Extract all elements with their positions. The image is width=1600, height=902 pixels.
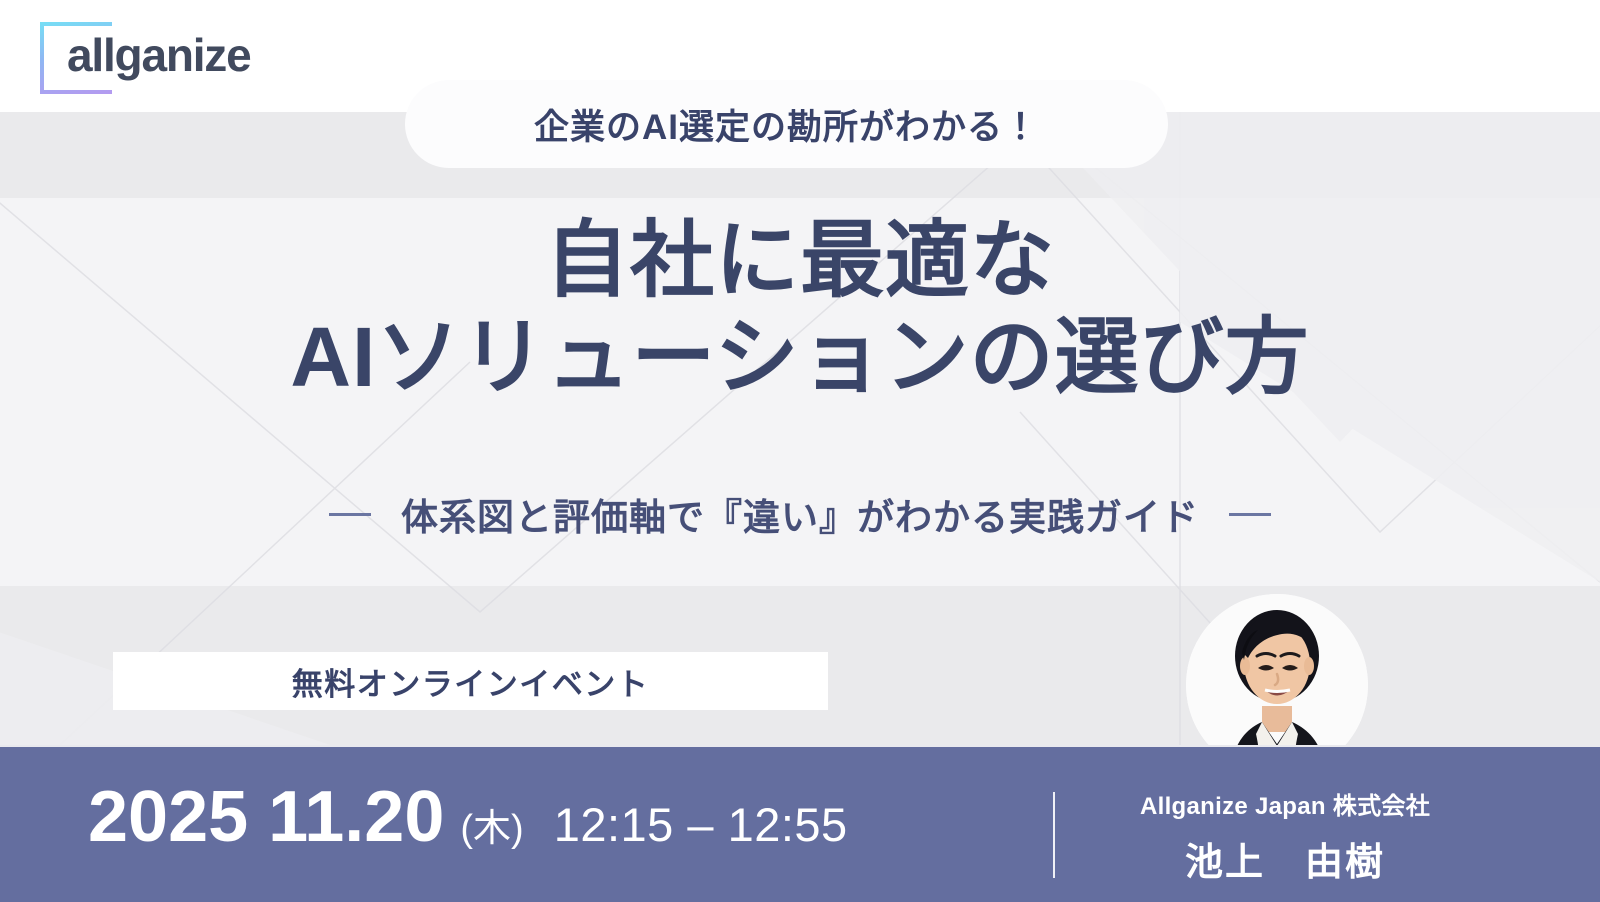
- event-day-of-week: (木): [460, 810, 523, 848]
- subtitle-row: 体系図と評価軸で『違い』がわかる実践ガイド: [0, 487, 1600, 541]
- event-time: 12:15 – 12:55: [554, 801, 848, 848]
- headline-line-2: AIソリューションの選び方: [0, 309, 1600, 406]
- subtitle-text: 体系図と評価軸で『違い』がわかる実践ガイド: [401, 487, 1199, 541]
- page-title: 自社に最適な AIソリューションの選び方: [0, 212, 1600, 407]
- allganize-logo: allganize: [40, 18, 270, 96]
- logo-wordmark: allganize: [67, 32, 251, 78]
- webinar-banner: allganize 企業のAI選定の勘所がわかる！ 自社に最適な AIソリューシ…: [0, 0, 1600, 902]
- speaker-name: 池上 由樹: [1090, 831, 1480, 886]
- free-event-badge: 無料オンラインイベント: [113, 652, 828, 710]
- event-datetime: 2025 11.20 (木) 12:15 – 12:55: [88, 781, 848, 853]
- headline-line-1: 自社に最適な: [0, 212, 1600, 309]
- free-event-badge-label: 無料オンラインイベント: [292, 659, 650, 704]
- pill-text: 企業のAI選定の勘所がわかる！: [534, 99, 1039, 150]
- subtitle-dash-right-icon: [1229, 513, 1271, 516]
- vertical-divider: [1053, 792, 1055, 878]
- headline-pill: 企業のAI選定の勘所がわかる！: [405, 80, 1168, 168]
- speaker-info: Allganize Japan 株式会社 池上 由樹: [1090, 786, 1480, 886]
- subtitle-dash-left-icon: [329, 513, 371, 516]
- event-date: 2025 11.20: [88, 781, 444, 853]
- speaker-company: Allganize Japan 株式会社: [1090, 786, 1480, 821]
